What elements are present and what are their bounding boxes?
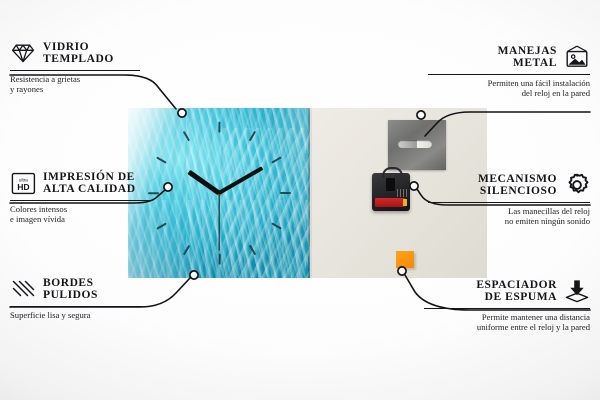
picture-frame-hanger-icon [564,44,590,70]
feature-title: BORDES PULIDOS [43,277,98,302]
clock-tick [157,156,168,163]
feature-description: Permiten una fácil instalación del reloj… [428,78,590,98]
diamond-icon [10,40,36,66]
clock-hand-second [218,193,219,251]
clock-face-front [128,108,310,278]
feature-mecanismo-silencioso: MECANISMO SILENCIOSO Las manecillas del … [428,172,590,227]
mechanism-shaft [386,178,395,191]
clock-tick [182,131,189,142]
clock-tick [218,253,220,264]
mechanism-loop [382,167,403,178]
divider [10,306,144,308]
divider [428,202,590,204]
clock-tick [157,222,168,229]
gear-icon [564,172,590,198]
divider [428,74,590,76]
feature-title: MECANISMO SILENCIOSO [478,173,557,198]
clock-tick [271,156,282,163]
battery [375,198,405,207]
clock-tick [248,245,255,256]
feature-espaciador-de-espuma: ESPACIADOR DE ESPUMA Permite mantener un… [424,278,590,333]
feature-title: MANEJAS METAL [498,45,557,70]
feature-description: Superficie lisa y segura [10,310,144,320]
feature-title: VIDRIO TEMPLADO [43,41,114,66]
clock-tick [218,121,220,132]
clock-tick [280,192,291,194]
divider [424,308,590,310]
mechanism-detail [397,189,407,197]
divider [10,70,140,72]
ultra-hd-icon: ultra HD [10,170,36,196]
polished-edges-icon [10,276,36,302]
clock-tick [248,131,255,142]
svg-text:HD: HD [17,182,29,192]
feature-manejas-metal: MANEJAS METAL Permiten una fácil instala… [428,44,590,99]
feature-impresion-alta-calidad: ultra HD IMPRESIÓN DE ALTA CALIDAD Color… [10,170,150,225]
clock-mechanism [372,173,410,211]
hanger-plate [388,120,446,170]
hanger-slot [398,140,432,148]
feature-description: Las manecillas del reloj no emiten ningú… [428,206,590,226]
infographic-canvas: VIDRIO TEMPLADO Resistencia a grietas y … [0,0,600,400]
clock-hand-hour [187,170,220,195]
feature-bordes-pulidos: BORDES PULIDOS Superficie lisa y segura [10,276,144,320]
clock-tick [182,245,189,256]
feature-title: ESPACIADOR DE ESPUMA [476,279,557,304]
foam-spacer [396,251,414,268]
feature-title: IMPRESIÓN DE ALTA CALIDAD [43,171,136,196]
feature-description: Permite mantener una distancia uniforme … [424,312,590,332]
down-arrow-layer-icon [564,278,590,304]
divider [10,200,150,202]
clock-hand-minute [218,166,263,194]
clock-tick [271,222,282,229]
clock-dial [128,108,310,278]
feature-description: Resistencia a grietas y rayones [10,74,140,94]
feature-vidrio-templado: VIDRIO TEMPLADO Resistencia a grietas y … [10,40,140,95]
feature-description: Colores intensos e imagen vívida [10,204,150,224]
